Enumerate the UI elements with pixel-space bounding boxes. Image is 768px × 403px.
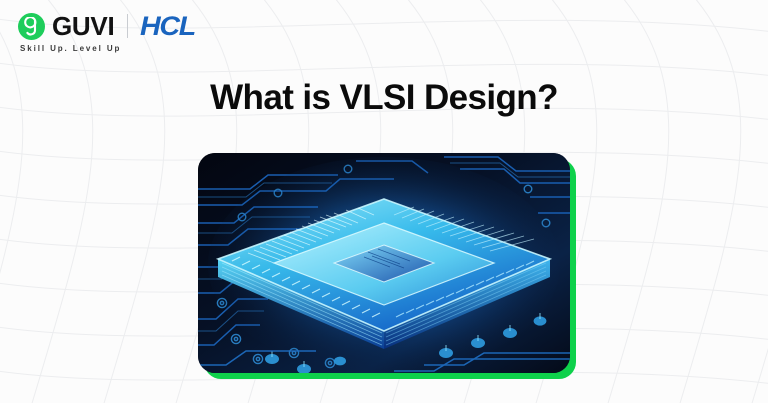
hero-image-block xyxy=(198,153,570,373)
page-title: What is VLSI Design? xyxy=(0,78,768,118)
slide-canvas: GUVI HCL Skill Up. Level Up What is VLSI… xyxy=(0,0,768,403)
brand-tagline: Skill Up. Level Up xyxy=(20,44,121,53)
vertical-divider-icon xyxy=(127,14,128,38)
guvi-g-logo-icon xyxy=(18,13,45,40)
hero-chip-photo xyxy=(198,153,570,373)
hcl-wordmark: HCL xyxy=(140,13,195,40)
brand-logo-row: GUVI HCL xyxy=(18,11,192,41)
guvi-wordmark: GUVI xyxy=(52,13,114,39)
brand-lockup: GUVI HCL Skill Up. Level Up xyxy=(18,11,192,53)
